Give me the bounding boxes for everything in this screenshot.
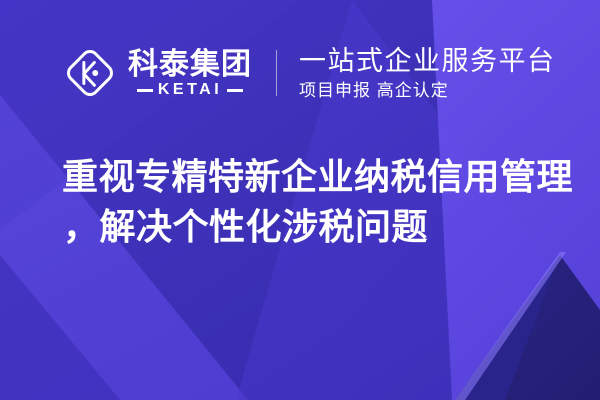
brand-row: 科泰集团 KETAI 一站式企业服务平台 项目申报 高企认定 <box>62 40 556 106</box>
logo-wordmark: 科泰集团 KETAI <box>128 49 252 98</box>
brand-divider <box>276 50 277 96</box>
tagline-sub: 项目申报 高企认定 <box>299 80 556 102</box>
tagline-block: 一站式企业服务平台 项目申报 高企认定 <box>299 45 556 102</box>
headline: 重视专精特新企业纳税信用管理 ，解决个性化涉税问题 <box>62 152 562 252</box>
logo-dash-right <box>227 89 243 92</box>
logo-name-cn: 科泰集团 <box>128 49 252 81</box>
ketai-logo[interactable]: 科泰集团 KETAI <box>62 45 252 101</box>
promo-banner: 科泰集团 KETAI 一站式企业服务平台 项目申报 高企认定 重视专精特新企业纳… <box>0 0 600 400</box>
headline-line-1: 重视专精特新企业纳税信用管理 <box>62 152 562 202</box>
logo-name-en: KETAI <box>158 82 222 98</box>
banner-content: 科泰集团 KETAI 一站式企业服务平台 项目申报 高企认定 重视专精特新企业纳… <box>0 0 600 400</box>
headline-line-2: ，解决个性化涉税问题 <box>62 202 562 252</box>
logo-en-row: KETAI <box>128 82 252 98</box>
logo-dash-left <box>137 89 153 92</box>
tagline-main: 一站式企业服务平台 <box>299 45 556 77</box>
ketai-diamond-k-logo-icon <box>62 45 118 101</box>
